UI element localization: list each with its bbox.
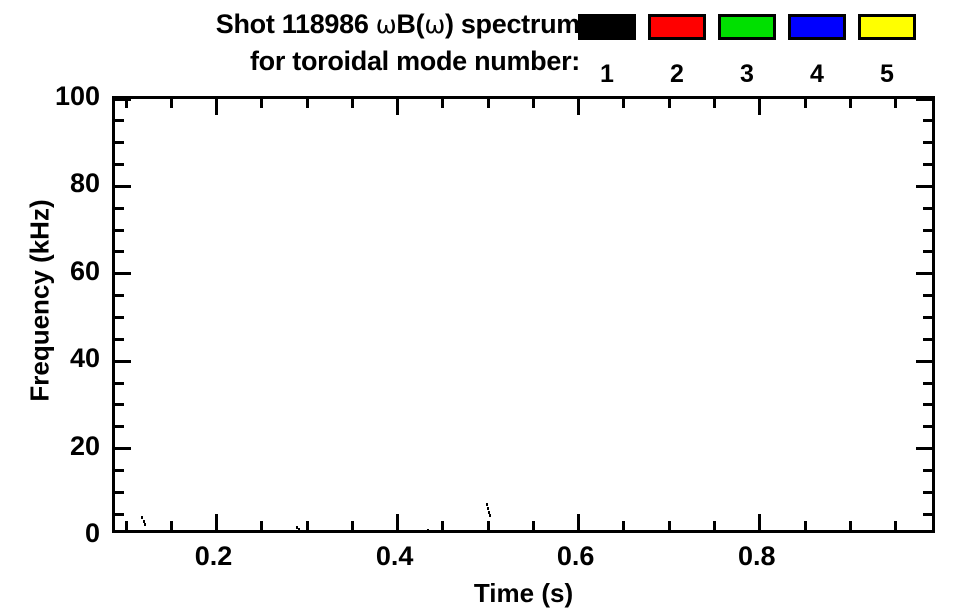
y-tick-right-50 xyxy=(923,316,932,319)
y-tick-right-70 xyxy=(923,229,932,232)
x-tick-top-0.6 xyxy=(577,99,580,115)
omega-symbol-2: ω xyxy=(424,10,445,39)
x-tick-label-0.6: 0.6 xyxy=(536,541,616,571)
x-tick-bottom-0.55 xyxy=(532,521,535,530)
x-tick-top-0.15 xyxy=(170,99,173,108)
x-tick-top-0.4 xyxy=(396,99,399,115)
x-tick-bottom-0.1 xyxy=(125,521,128,530)
y-tick-left-35 xyxy=(115,382,124,385)
y-tick-left-80 xyxy=(115,185,131,188)
y-tick-left-100 xyxy=(115,99,131,101)
x-tick-bottom-0.6 xyxy=(577,514,580,530)
y-tick-right-20 xyxy=(916,447,932,450)
legend-swatch-4 xyxy=(788,14,846,40)
legend: 12345 xyxy=(578,14,958,89)
y-tick-left-65 xyxy=(115,250,124,253)
y-tick-left-95 xyxy=(115,119,124,122)
x-tick-top-0.7 xyxy=(668,99,671,108)
y-tick-left-75 xyxy=(115,207,124,210)
x-tick-top-0.75 xyxy=(713,99,716,108)
y-tick-left-85 xyxy=(115,163,124,166)
x-tick-top-0.95 xyxy=(894,99,897,108)
y-tick-left-20 xyxy=(115,447,131,450)
y-tick-right-5 xyxy=(923,513,932,516)
y-tick-right-90 xyxy=(923,141,932,144)
data-mark-n1 xyxy=(487,507,489,510)
x-tick-label-0.8: 0.8 xyxy=(717,541,797,571)
x-tick-label-0.2: 0.2 xyxy=(174,541,254,571)
spectrum-plot-figure: Shot 118986 ωB(ω) spectrum for toroidal … xyxy=(0,0,963,615)
data-mark-n1 xyxy=(486,503,488,506)
omega-symbol-1: ω xyxy=(376,10,397,39)
y-tick-right-45 xyxy=(923,338,932,341)
data-mark-n1 xyxy=(144,523,146,526)
x-tick-top-0.85 xyxy=(804,99,807,108)
x-tick-top-0.35 xyxy=(351,99,354,108)
legend-label-2: 2 xyxy=(648,60,706,88)
y-tick-right-35 xyxy=(923,382,932,385)
y-tick-left-15 xyxy=(115,469,124,472)
legend-swatch-5 xyxy=(858,14,916,40)
x-tick-bottom-0.5 xyxy=(487,521,490,530)
y-tick-left-40 xyxy=(115,360,131,363)
title-spectrum-text: ) spectrum xyxy=(445,9,580,39)
x-tick-top-0.55 xyxy=(532,99,535,108)
y-tick-left-70 xyxy=(115,229,124,232)
y-tick-right-60 xyxy=(916,272,932,275)
y-tick-right-100 xyxy=(916,99,932,101)
x-tick-bottom-0.15 xyxy=(170,521,173,530)
y-tick-right-55 xyxy=(923,294,932,297)
title-b-open: B( xyxy=(396,9,424,39)
y-tick-left-5 xyxy=(115,513,124,516)
title-line-1: Shot 118986 ωB(ω) spectrum xyxy=(0,6,580,43)
x-tick-top-0.25 xyxy=(260,99,263,108)
legend-label-1: 1 xyxy=(578,60,636,88)
x-tick-top-0.5 xyxy=(487,99,490,108)
plot-frame xyxy=(112,96,935,533)
x-tick-bottom-0.9 xyxy=(849,521,852,530)
y-tick-label-100: 100 xyxy=(0,83,100,110)
x-tick-bottom-0.25 xyxy=(260,521,263,530)
y-tick-right-30 xyxy=(923,403,932,406)
y-tick-left-25 xyxy=(115,425,124,428)
y-tick-right-25 xyxy=(923,425,932,428)
x-axis-title: Time (s) xyxy=(112,578,935,609)
y-tick-left-60 xyxy=(115,272,131,275)
x-tick-top-0.8 xyxy=(758,99,761,115)
y-tick-right-80 xyxy=(916,185,932,188)
title-shot-text: Shot 118986 xyxy=(216,9,376,39)
y-tick-right-85 xyxy=(923,163,932,166)
legend-swatch-3 xyxy=(718,14,776,40)
x-tick-bottom-0.65 xyxy=(622,521,625,530)
x-tick-bottom-0.2 xyxy=(215,514,218,530)
x-tick-bottom-0.75 xyxy=(713,521,716,530)
y-tick-right-10 xyxy=(923,491,932,494)
x-tick-bottom-0.7 xyxy=(668,521,671,530)
x-tick-top-0.65 xyxy=(622,99,625,108)
y-tick-left-55 xyxy=(115,294,124,297)
legend-label-3: 3 xyxy=(718,60,776,88)
y-tick-right-40 xyxy=(916,360,932,363)
x-tick-top-0.3 xyxy=(306,99,309,108)
y-tick-left-50 xyxy=(115,316,124,319)
y-tick-right-65 xyxy=(923,250,932,253)
legend-swatch-2 xyxy=(648,14,706,40)
y-tick-left-30 xyxy=(115,403,124,406)
x-tick-bottom-0.95 xyxy=(894,521,897,530)
legend-label-5: 5 xyxy=(858,60,916,88)
x-tick-top-0.1 xyxy=(125,99,128,108)
x-tick-top-0.9 xyxy=(849,99,852,108)
x-tick-bottom-0.8 xyxy=(758,514,761,530)
y-tick-right-75 xyxy=(923,207,932,210)
legend-label-4: 4 xyxy=(788,60,846,88)
y-tick-left-10 xyxy=(115,491,124,494)
x-tick-label-0.4: 0.4 xyxy=(355,541,435,571)
x-tick-top-0.45 xyxy=(441,99,444,108)
x-tick-bottom-0.3 xyxy=(306,521,309,530)
y-tick-right-15 xyxy=(923,469,932,472)
x-tick-bottom-0.45 xyxy=(441,521,444,530)
figure-title: Shot 118986 ωB(ω) spectrum for toroidal … xyxy=(0,6,580,80)
x-tick-top-0.2 xyxy=(215,99,218,115)
x-tick-bottom-0.4 xyxy=(396,514,399,530)
plot-area xyxy=(115,99,932,530)
y-tick-left-45 xyxy=(115,338,124,341)
title-line-2: for toroidal mode number: xyxy=(0,43,580,80)
y-axis-title: Frequency (kHz) xyxy=(25,141,56,461)
legend-swatch-1 xyxy=(578,14,636,40)
x-tick-bottom-0.85 xyxy=(804,521,807,530)
data-mark-n1 xyxy=(489,514,491,517)
x-tick-bottom-0.35 xyxy=(351,521,354,530)
y-tick-left-90 xyxy=(115,141,124,144)
y-tick-label-0: 0 xyxy=(0,520,100,547)
y-tick-right-95 xyxy=(923,119,932,122)
